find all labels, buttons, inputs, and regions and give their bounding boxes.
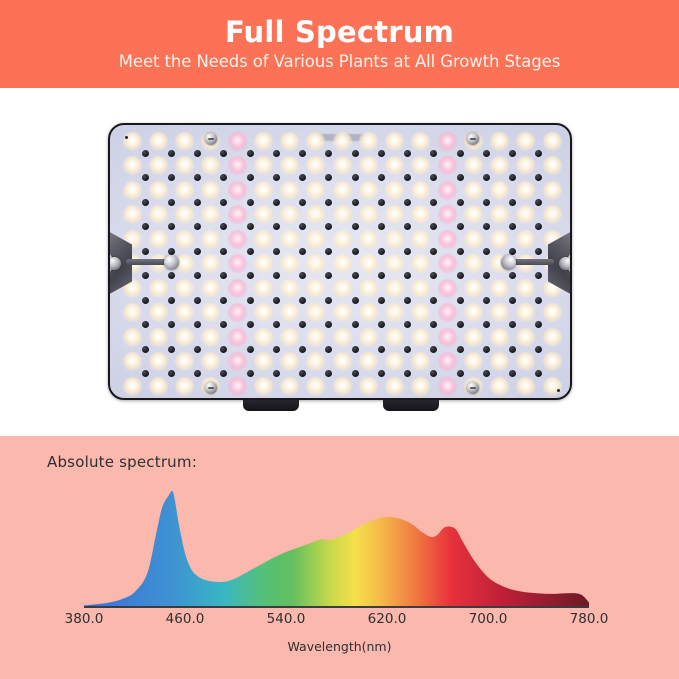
led-pink: [438, 377, 457, 396]
led-unlit-diode: [220, 370, 227, 377]
led-pink: [228, 181, 247, 200]
led-unlit-diode: [404, 199, 411, 206]
led-warm-white: [359, 352, 378, 371]
led-warm-white: [306, 181, 325, 200]
led-warm-white: [411, 230, 430, 249]
led-warm-white: [464, 352, 483, 371]
led-warm-white: [464, 181, 483, 200]
led-unlit-diode: [457, 248, 464, 255]
led-warm-white: [411, 377, 430, 396]
led-warm-white: [516, 303, 535, 322]
led-warm-white: [516, 181, 535, 200]
led-warm-white: [201, 205, 220, 224]
led-warm-white: [490, 132, 509, 151]
led-unlit-diode: [378, 150, 385, 157]
led-unlit-diode: [168, 199, 175, 206]
led-unlit-diode: [352, 223, 359, 230]
led-unlit-diode: [168, 248, 175, 255]
led-warm-white: [490, 377, 509, 396]
x-axis-tick-label: 700.0: [469, 611, 508, 627]
led-warm-white: [280, 303, 299, 322]
led-unlit-diode: [273, 272, 280, 279]
led-warm-white: [254, 156, 273, 175]
led-unlit-diode: [220, 272, 227, 279]
led-warm-white: [175, 181, 194, 200]
led-unlit-diode: [457, 346, 464, 353]
led-warm-white: [464, 230, 483, 249]
led-unlit-diode: [168, 174, 175, 181]
led-warm-white: [254, 230, 273, 249]
led-pink: [228, 132, 247, 151]
panel-screw-icon: [205, 382, 217, 394]
led-unlit-diode: [299, 346, 306, 353]
led-unlit-diode: [273, 321, 280, 328]
led-warm-white: [411, 352, 430, 371]
led-pink: [438, 303, 457, 322]
led-unlit-diode: [430, 248, 437, 255]
led-warm-white: [254, 279, 273, 298]
led-warm-white: [333, 205, 352, 224]
led-unlit-diode: [299, 223, 306, 230]
led-pink: [438, 230, 457, 249]
led-unlit-diode: [430, 297, 437, 304]
led-warm-white: [175, 303, 194, 322]
board-marker-dot: [557, 389, 560, 392]
led-unlit-diode: [457, 297, 464, 304]
led-warm-white: [543, 303, 562, 322]
led-warm-white: [333, 230, 352, 249]
page-title: Full Spectrum: [225, 17, 454, 47]
led-warm-white: [306, 254, 325, 273]
led-unlit-diode: [273, 297, 280, 304]
led-unlit-diode: [483, 174, 490, 181]
led-unlit-diode: [142, 248, 149, 255]
led-warm-white: [411, 181, 430, 200]
led-warm-white: [175, 132, 194, 151]
spectrum-curve: [84, 491, 589, 606]
led-warm-white: [464, 328, 483, 347]
led-unlit-diode: [483, 297, 490, 304]
led-unlit-diode: [168, 223, 175, 230]
bracket-screw-icon: [559, 257, 572, 270]
led-warm-white: [201, 230, 220, 249]
led-unlit-diode: [299, 272, 306, 279]
led-unlit-diode: [404, 370, 411, 377]
led-warm-white: [149, 181, 168, 200]
led-warm-white: [543, 352, 562, 371]
led-warm-white: [306, 205, 325, 224]
led-warm-white: [280, 254, 299, 273]
led-warm-white: [306, 352, 325, 371]
led-warm-white: [280, 328, 299, 347]
led-warm-white: [149, 156, 168, 175]
led-unlit-diode: [352, 272, 359, 279]
led-warm-white: [123, 205, 142, 224]
led-unlit-diode: [457, 199, 464, 206]
spectrum-curve-svg: [84, 491, 589, 606]
led-unlit-diode: [168, 297, 175, 304]
led-pink: [438, 254, 457, 273]
led-warm-white: [254, 205, 273, 224]
led-unlit-diode: [220, 223, 227, 230]
led-unlit-diode: [247, 199, 254, 206]
led-warm-white: [385, 352, 404, 371]
led-unlit-diode: [430, 346, 437, 353]
led-unlit-diode: [299, 174, 306, 181]
led-pink: [228, 352, 247, 371]
led-warm-white: [516, 328, 535, 347]
led-warm-white: [411, 205, 430, 224]
led-warm-white: [490, 205, 509, 224]
product-image-section: [0, 88, 679, 436]
led-warm-white: [490, 352, 509, 371]
led-warm-white: [280, 377, 299, 396]
led-warm-white: [149, 352, 168, 371]
x-axis-tick-label: 460.0: [166, 611, 205, 627]
led-warm-white: [490, 279, 509, 298]
led-unlit-diode: [509, 199, 516, 206]
led-warm-white: [201, 254, 220, 273]
x-axis-tick-label: 540.0: [267, 611, 306, 627]
led-unlit-diode: [299, 150, 306, 157]
led-unlit-diode: [430, 272, 437, 279]
led-unlit-diode: [220, 346, 227, 353]
led-unlit-diode: [378, 321, 385, 328]
led-unlit-diode: [168, 346, 175, 353]
led-warm-white: [149, 230, 168, 249]
led-unlit-diode: [430, 174, 437, 181]
led-unlit-diode: [142, 150, 149, 157]
led-unlit-diode: [247, 370, 254, 377]
led-unlit-diode: [430, 370, 437, 377]
led-warm-white: [543, 377, 562, 396]
led-warm-white: [411, 132, 430, 151]
led-unlit-diode: [509, 297, 516, 304]
led-unlit-diode: [457, 272, 464, 279]
led-warm-white: [254, 132, 273, 151]
led-unlit-diode: [247, 174, 254, 181]
led-unlit-diode: [483, 248, 490, 255]
led-unlit-diode: [273, 346, 280, 353]
led-warm-white: [280, 156, 299, 175]
board-marker-dot: [125, 136, 128, 139]
led-warm-white: [359, 377, 378, 396]
led-warm-white: [543, 205, 562, 224]
led-unlit-diode: [404, 150, 411, 157]
led-warm-white: [123, 181, 142, 200]
led-warm-white: [543, 328, 562, 347]
led-warm-white: [306, 230, 325, 249]
led-unlit-diode: [194, 321, 201, 328]
led-unlit-diode: [352, 370, 359, 377]
led-unlit-diode: [378, 297, 385, 304]
led-unlit-diode: [168, 321, 175, 328]
led-warm-white: [280, 132, 299, 151]
led-pink: [438, 132, 457, 151]
led-pink: [228, 230, 247, 249]
led-pink: [438, 279, 457, 298]
led-pink: [228, 377, 247, 396]
led-warm-white: [411, 254, 430, 273]
led-warm-white: [175, 205, 194, 224]
led-unlit-diode: [194, 272, 201, 279]
header-banner: Full Spectrum Meet the Needs of Various …: [0, 0, 679, 88]
led-unlit-diode: [378, 199, 385, 206]
led-unlit-diode: [299, 370, 306, 377]
led-pink: [438, 328, 457, 347]
led-warm-white: [280, 352, 299, 371]
led-unlit-diode: [194, 199, 201, 206]
led-unlit-diode: [457, 370, 464, 377]
led-unlit-diode: [535, 174, 542, 181]
led-unlit-diode: [220, 321, 227, 328]
led-unlit-diode: [535, 297, 542, 304]
led-unlit-diode: [325, 174, 332, 181]
led-unlit-diode: [142, 272, 149, 279]
bracket-knob: [501, 255, 516, 270]
led-unlit-diode: [483, 223, 490, 230]
led-unlit-diode: [378, 223, 385, 230]
led-unlit-diode: [509, 346, 516, 353]
led-unlit-diode: [168, 272, 175, 279]
led-unlit-diode: [535, 346, 542, 353]
led-pink: [228, 254, 247, 273]
led-unlit-diode: [325, 297, 332, 304]
led-unlit-diode: [352, 199, 359, 206]
led-warm-white: [359, 181, 378, 200]
led-unlit-diode: [509, 321, 516, 328]
bracket-screw-icon: [108, 257, 121, 270]
led-unlit-diode: [378, 370, 385, 377]
led-warm-white: [254, 352, 273, 371]
led-unlit-diode: [404, 297, 411, 304]
led-unlit-diode: [535, 248, 542, 255]
led-unlit-diode: [325, 321, 332, 328]
x-axis-tick-label: 620.0: [368, 611, 407, 627]
led-unlit-diode: [352, 174, 359, 181]
led-warm-white: [359, 254, 378, 273]
page-subtitle: Meet the Needs of Various Plants at All …: [119, 53, 560, 71]
led-unlit-diode: [247, 150, 254, 157]
led-unlit-diode: [535, 150, 542, 157]
led-warm-white: [149, 279, 168, 298]
led-unlit-diode: [457, 174, 464, 181]
led-unlit-diode: [457, 223, 464, 230]
led-unlit-diode: [325, 346, 332, 353]
led-warm-white: [201, 156, 220, 175]
led-warm-white: [385, 230, 404, 249]
led-unlit-diode: [430, 321, 437, 328]
led-unlit-diode: [535, 223, 542, 230]
led-unlit-diode: [509, 223, 516, 230]
led-unlit-diode: [142, 321, 149, 328]
led-unlit-diode: [352, 297, 359, 304]
led-unlit-diode: [194, 150, 201, 157]
led-warm-white: [359, 132, 378, 151]
led-warm-white: [149, 328, 168, 347]
led-pink: [228, 279, 247, 298]
led-unlit-diode: [483, 346, 490, 353]
led-warm-white: [175, 377, 194, 396]
led-warm-white: [385, 254, 404, 273]
led-unlit-diode: [142, 174, 149, 181]
led-warm-white: [306, 377, 325, 396]
led-warm-white: [280, 279, 299, 298]
led-pink: [438, 156, 457, 175]
led-unlit-diode: [273, 370, 280, 377]
led-warm-white: [359, 230, 378, 249]
led-warm-white: [306, 303, 325, 322]
led-unlit-diode: [220, 174, 227, 181]
mounting-bracket-right: [548, 230, 572, 296]
led-unlit-diode: [430, 150, 437, 157]
led-unlit-diode: [194, 223, 201, 230]
led-warm-white: [201, 279, 220, 298]
led-warm-white: [543, 181, 562, 200]
led-unlit-diode: [168, 150, 175, 157]
led-warm-white: [333, 156, 352, 175]
led-unlit-diode: [404, 248, 411, 255]
led-warm-white: [201, 303, 220, 322]
led-unlit-diode: [247, 321, 254, 328]
led-pink: [228, 303, 247, 322]
led-unlit-diode: [325, 223, 332, 230]
x-axis-tick-labels: 380.0460.0540.0620.0700.0780.0: [84, 611, 589, 631]
led-unlit-diode: [247, 297, 254, 304]
led-warm-white: [333, 181, 352, 200]
led-unlit-diode: [404, 223, 411, 230]
led-unlit-diode: [483, 199, 490, 206]
led-unlit-diode: [325, 248, 332, 255]
led-warm-white: [149, 303, 168, 322]
led-warm-white: [516, 205, 535, 224]
led-unlit-diode: [142, 297, 149, 304]
led-unlit-diode: [352, 346, 359, 353]
led-unlit-diode: [483, 321, 490, 328]
led-warm-white: [359, 205, 378, 224]
led-unlit-diode: [509, 150, 516, 157]
led-unlit-diode: [220, 297, 227, 304]
led-unlit-diode: [509, 370, 516, 377]
led-unlit-diode: [404, 321, 411, 328]
led-unlit-diode: [404, 346, 411, 353]
led-unlit-diode: [142, 346, 149, 353]
led-unlit-diode: [378, 272, 385, 279]
led-warm-white: [149, 377, 168, 396]
led-unlit-diode: [194, 174, 201, 181]
led-unlit-diode: [247, 272, 254, 279]
led-pink: [438, 205, 457, 224]
led-warm-white: [333, 328, 352, 347]
led-unlit-diode: [299, 321, 306, 328]
led-unlit-diode: [535, 199, 542, 206]
led-unlit-diode: [220, 150, 227, 157]
led-unlit-diode: [378, 174, 385, 181]
led-warm-white: [516, 279, 535, 298]
led-warm-white: [516, 132, 535, 151]
led-unlit-diode: [430, 199, 437, 206]
led-warm-white: [123, 303, 142, 322]
led-unlit-diode: [483, 272, 490, 279]
led-warm-white: [254, 377, 273, 396]
led-warm-white: [490, 303, 509, 322]
led-unlit-diode: [142, 223, 149, 230]
led-warm-white: [123, 156, 142, 175]
led-unlit-diode: [194, 370, 201, 377]
mounting-bracket-left: [108, 230, 132, 296]
led-warm-white: [175, 230, 194, 249]
led-warm-white: [516, 352, 535, 371]
led-unlit-diode: [535, 370, 542, 377]
led-unlit-diode: [168, 370, 175, 377]
led-unlit-diode: [378, 248, 385, 255]
led-unlit-diode: [194, 346, 201, 353]
led-warm-white: [306, 328, 325, 347]
led-warm-white: [411, 279, 430, 298]
led-unlit-diode: [404, 272, 411, 279]
led-warm-white: [464, 254, 483, 273]
led-unlit-diode: [457, 150, 464, 157]
connector-tab-left: [243, 400, 299, 411]
led-unlit-diode: [220, 199, 227, 206]
led-warm-white: [333, 352, 352, 371]
led-unlit-diode: [352, 248, 359, 255]
led-warm-white: [464, 279, 483, 298]
led-unlit-diode: [325, 150, 332, 157]
led-warm-white: [464, 156, 483, 175]
led-warm-white: [543, 156, 562, 175]
led-unlit-diode: [483, 370, 490, 377]
led-warm-white: [385, 303, 404, 322]
led-warm-white: [123, 328, 142, 347]
led-unlit-diode: [483, 150, 490, 157]
led-warm-white: [385, 132, 404, 151]
led-unlit-diode: [299, 248, 306, 255]
led-warm-white: [385, 328, 404, 347]
spectrum-chart-section: Absolute spectrum: 380.0460.0540.0620.07…: [0, 436, 679, 679]
led-warm-white: [385, 279, 404, 298]
led-warm-white: [280, 205, 299, 224]
led-unlit-diode: [535, 321, 542, 328]
led-grow-light-panel: [108, 123, 572, 400]
led-unlit-diode: [325, 370, 332, 377]
led-warm-white: [490, 230, 509, 249]
led-unlit-diode: [273, 248, 280, 255]
led-unlit-diode: [299, 297, 306, 304]
led-warm-white: [385, 377, 404, 396]
led-warm-white: [411, 156, 430, 175]
led-warm-white: [359, 156, 378, 175]
led-warm-white: [306, 279, 325, 298]
led-unlit-diode: [352, 150, 359, 157]
led-warm-white: [411, 303, 430, 322]
panel-screw-icon: [205, 133, 217, 145]
led-pink: [228, 156, 247, 175]
led-warm-white: [516, 230, 535, 249]
led-warm-white: [411, 328, 430, 347]
led-warm-white: [149, 205, 168, 224]
led-unlit-diode: [325, 199, 332, 206]
led-pink: [228, 328, 247, 347]
led-warm-white: [490, 328, 509, 347]
led-unlit-diode: [509, 272, 516, 279]
led-unlit-diode: [273, 174, 280, 181]
led-unlit-diode: [142, 199, 149, 206]
led-warm-white: [254, 254, 273, 273]
led-unlit-diode: [535, 272, 542, 279]
bracket-knob: [164, 255, 179, 270]
spectrum-area-path: [84, 491, 589, 606]
